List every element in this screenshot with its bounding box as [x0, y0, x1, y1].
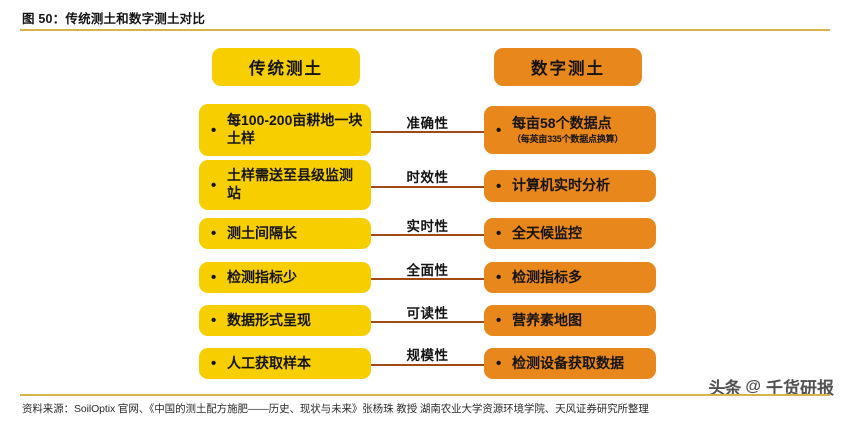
bullet-icon: •: [211, 270, 223, 285]
traditional-item-box[interactable]: • 每100-200亩耕地一块土样: [199, 104, 371, 156]
traditional-item-box[interactable]: • 检测指标少: [199, 262, 371, 293]
comparison-dimension-label: 准确性: [371, 112, 484, 132]
traditional-item-label: 土样需送至县级监测站: [227, 167, 353, 201]
title-divider: [20, 29, 830, 31]
bullet-icon: •: [211, 226, 223, 241]
digital-item-box[interactable]: • 每亩58个数据点 （每英亩335个数据点换算）: [484, 106, 656, 154]
comparison-dimension-label: 全面性: [371, 259, 484, 279]
digital-item-label: 每亩58个数据点: [512, 115, 612, 131]
connector-line: [371, 321, 484, 323]
traditional-item-box[interactable]: • 数据形式呈现: [199, 305, 371, 336]
source-note: 资料来源：SoilOptix 官网、《中国的测土配方施肥——历史、现状与未来》张…: [22, 401, 649, 416]
digital-item-label: 检测指标多: [512, 269, 582, 285]
comparison-dimension-label: 时效性: [371, 166, 484, 186]
digital-item-label: 营养素地图: [512, 312, 582, 328]
digital-item-box[interactable]: • 计算机实时分析: [484, 170, 656, 202]
comparison-dimension-label: 实时性: [371, 215, 484, 235]
digital-item-box[interactable]: • 营养素地图: [484, 305, 656, 336]
bullet-icon: •: [211, 123, 223, 138]
traditional-item-label: 数据形式呈现: [227, 312, 311, 328]
bullet-icon: •: [211, 313, 223, 328]
comparison-dimension-label: 规模性: [371, 344, 484, 364]
digital-item-box[interactable]: • 检测指标多: [484, 262, 656, 293]
header-pill-digital[interactable]: 数字测土: [494, 48, 642, 86]
footer-divider: [20, 394, 830, 396]
comparison-grid: • 每100-200亩耕地一块土样 准确性 • 每亩58个数据点 （每英亩335…: [0, 0, 850, 424]
traditional-item-label: 测土间隔长: [227, 225, 297, 241]
header-pill-traditional[interactable]: 传统测土: [212, 48, 360, 86]
connector-line: [371, 234, 484, 236]
bullet-icon: •: [496, 179, 508, 194]
traditional-item-label: 检测指标少: [227, 269, 297, 285]
connector-line: [371, 186, 484, 188]
digital-item-box[interactable]: • 全天候监控: [484, 218, 656, 249]
connector-line: [371, 131, 484, 133]
digital-item-label: 计算机实时分析: [512, 177, 610, 193]
bullet-icon: •: [496, 356, 508, 371]
connector-line: [371, 278, 484, 280]
digital-item-subnote: （每英亩335个数据点换算）: [512, 134, 650, 146]
at-sign-icon: @: [745, 378, 761, 396]
bullet-icon: •: [496, 123, 508, 138]
traditional-item-box[interactable]: • 测土间隔长: [199, 218, 371, 249]
traditional-item-label: 人工获取样本: [227, 355, 311, 371]
traditional-item-box[interactable]: • 土样需送至县级监测站: [199, 160, 371, 210]
bullet-icon: •: [496, 313, 508, 328]
bullet-icon: •: [496, 270, 508, 285]
connector-line: [371, 364, 484, 366]
digital-item-label: 全天候监控: [512, 225, 582, 241]
bullet-icon: •: [496, 226, 508, 241]
page-title: 图 50：传统测土和数字测土对比: [22, 8, 205, 27]
bullet-icon: •: [211, 178, 223, 193]
traditional-item-box[interactable]: • 人工获取样本: [199, 348, 371, 379]
comparison-dimension-label: 可读性: [371, 302, 484, 322]
traditional-item-label: 每100-200亩耕地一块土样: [227, 112, 362, 146]
bullet-icon: •: [211, 356, 223, 371]
digital-item-box[interactable]: • 检测设备获取数据: [484, 348, 656, 379]
digital-item-label: 检测设备获取数据: [512, 355, 624, 371]
